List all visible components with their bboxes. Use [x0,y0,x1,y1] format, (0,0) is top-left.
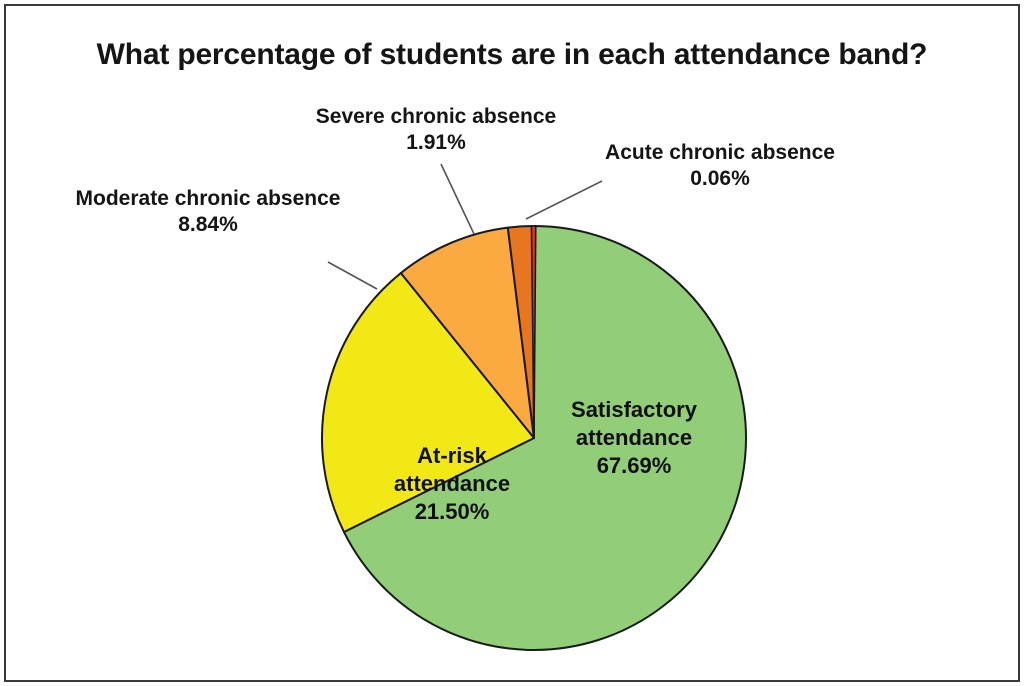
pie-label-satisfactory-value: 67.69% [534,452,734,480]
pie-label-satisfactory: Satisfactory attendance 67.69% [534,396,734,480]
chart-page: What percentage of students are in each … [0,0,1024,686]
pie-label-at-risk-line1: At-risk [362,442,542,470]
pie-label-severe-chronic-value: 1.91% [296,130,576,156]
pie-label-moderate-chronic-name: Moderate chronic absence [76,187,341,210]
pie-label-severe-chronic-name: Severe chronic absence [316,105,556,128]
pie-label-moderate-chronic: Moderate chronic absence 8.84% [46,186,370,237]
pie-chart [0,0,1024,686]
pie-chart-svg [0,0,1024,686]
pie-label-at-risk-line2: attendance [362,470,542,498]
pie-label-acute-chronic: Acute chronic absence 0.06% [578,140,862,191]
pie-label-at-risk-value: 21.50% [362,498,542,526]
leader-line-moderate [328,262,377,289]
pie-label-at-risk: At-risk attendance 21.50% [362,442,542,526]
pie-label-acute-chronic-value: 0.06% [578,166,862,192]
pie-label-satisfactory-line2: attendance [534,424,734,452]
pie-label-moderate-chronic-value: 8.84% [46,212,370,238]
leader-line-severe [441,164,474,234]
pie-label-acute-chronic-name: Acute chronic absence [605,141,835,164]
pie-label-satisfactory-line1: Satisfactory [534,396,734,424]
pie-label-severe-chronic: Severe chronic absence 1.91% [296,104,576,155]
